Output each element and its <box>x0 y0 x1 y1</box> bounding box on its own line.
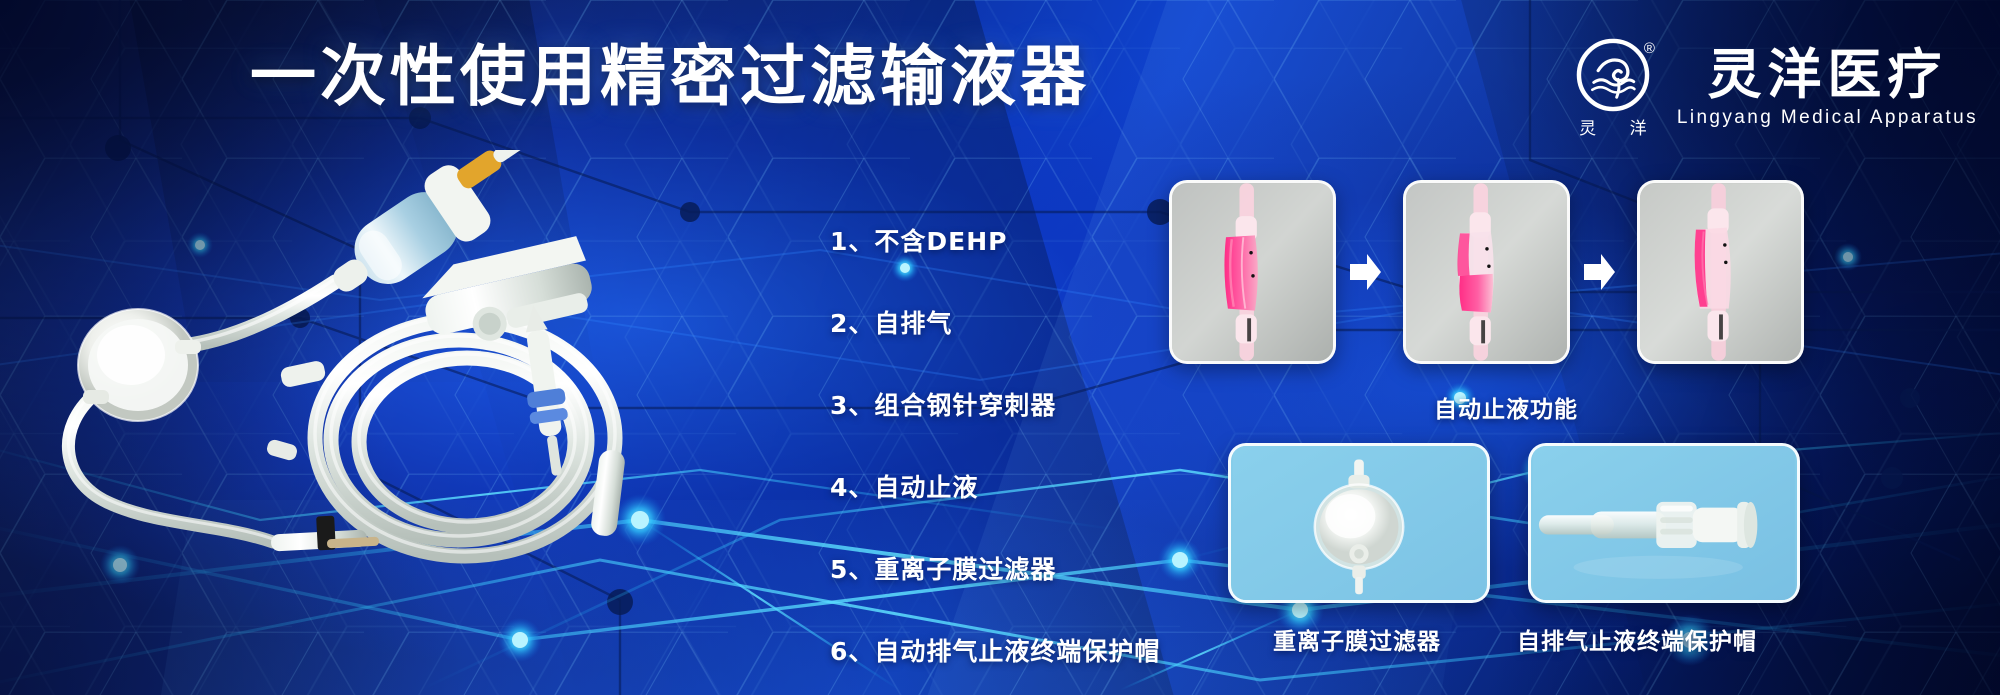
feature-item-5: 5、重离子膜过滤器 <box>830 550 1160 586</box>
hero-membrane-filter <box>78 309 201 421</box>
sequence-caption: 自动止液功能 <box>1434 390 1578 424</box>
brand-wordmark: 灵洋医疗 Lingyang Medical Apparatus <box>1677 47 1978 130</box>
feature-item-4: 4、自动止液 <box>830 468 1160 504</box>
product-photo-terminal-cap <box>1528 443 1800 603</box>
sequence-frame-3 <box>1637 180 1804 364</box>
page-title: 一次性使用精密过滤输液器 <box>250 44 1090 110</box>
feature-item-6: 6、自动排气止液终端保护帽 <box>830 632 1160 668</box>
hero-terminal-cap <box>590 449 626 538</box>
logo-mark-subtext: 灵 洋 <box>1565 114 1660 139</box>
company-name-en: Lingyang Medical Apparatus <box>1677 107 1978 129</box>
feature-list: 1、不含DEHP 2、自排气 3、组合钢针穿刺器 4、自动止液 5、重离子膜过滤… <box>830 222 1160 668</box>
hero-product-photo <box>35 150 775 570</box>
feature-item-2: 2、自排气 <box>830 304 1160 340</box>
product-photo-filter <box>1228 443 1490 603</box>
product-caption-terminal-cap: 自排气止液终端保护帽 <box>1517 622 1757 656</box>
arrow-right-icon-2 <box>1582 250 1616 294</box>
sequence-frame-2 <box>1403 180 1570 364</box>
registered-mark-icon: ® <box>1644 40 1655 57</box>
banner-root: 一次性使用精密过滤输液器 ® 灵 洋 灵洋医疗 Lingyang Medical… <box>0 0 2000 695</box>
product-caption-filter: 重离子膜过滤器 <box>1273 622 1441 656</box>
brand-logo: ® 灵 洋 灵洋医疗 Lingyang Medical Apparatus <box>1565 38 1978 138</box>
lingyang-wave-emblem-icon: ® <box>1576 38 1650 112</box>
arrow-right-icon-1 <box>1348 250 1382 294</box>
feature-item-1: 1、不含DEHP <box>830 222 1160 258</box>
feature-item-3: 3、组合钢针穿刺器 <box>830 386 1160 422</box>
company-name-cn: 灵洋医疗 <box>1707 47 1947 104</box>
logo-mark: ® 灵 洋 <box>1565 38 1661 138</box>
sequence-frame-1 <box>1169 180 1336 364</box>
